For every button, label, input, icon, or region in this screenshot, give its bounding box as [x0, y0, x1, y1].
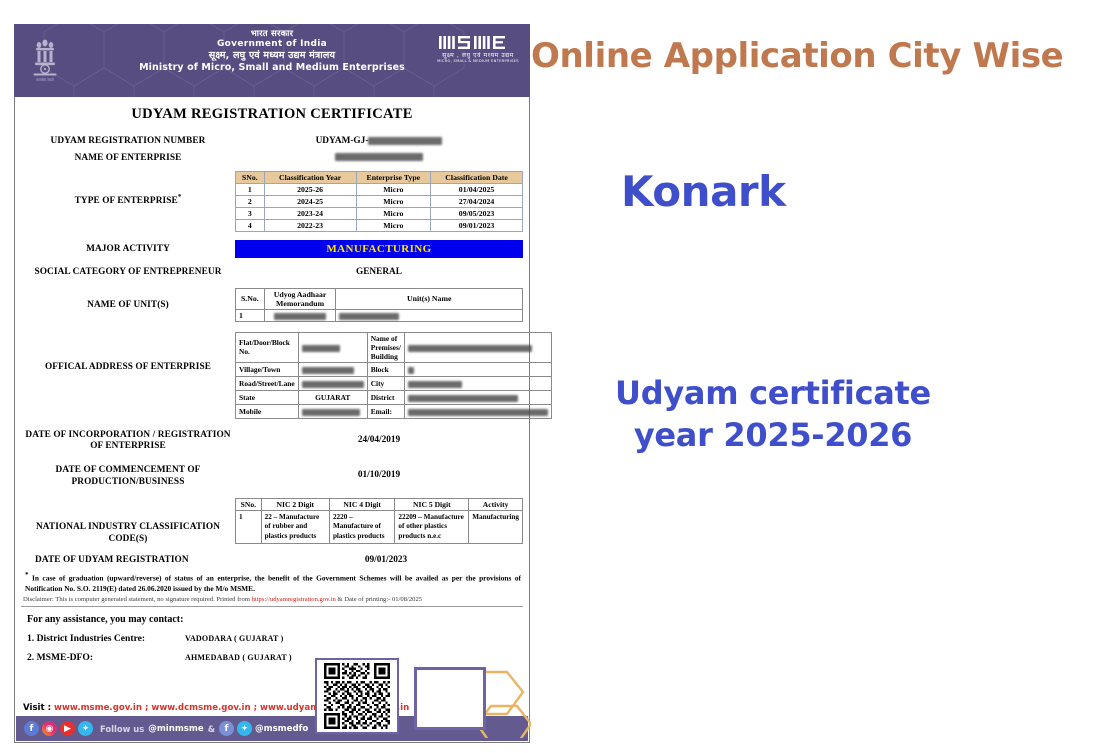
cell-type: Micro [356, 184, 431, 196]
table-row: 1 22 – Manufacture of rubber and plastic… [236, 511, 523, 544]
cell-sno: 2 [236, 196, 265, 208]
table-row: 1 2025-26 Micro 01/04/2025 [236, 184, 523, 196]
col-nic2: NIC 2 Digit [261, 499, 329, 511]
contact-dic: 1. District Industries Centre: VADODARA … [21, 625, 523, 644]
field-name-of-units: NAME OF UNIT(S) S.No. Udyog Aadhaar Memo… [21, 288, 523, 322]
col-sno: SNo. [236, 499, 262, 511]
contact-dic-label: 1. District Industries Centre: [27, 633, 185, 644]
addr-value-district [404, 390, 551, 404]
address-row: Village/Town Block [236, 362, 552, 376]
type-of-enterprise-label: TYPE OF ENTERPRISE* [21, 171, 235, 208]
address-row: State GUJARAT District [236, 390, 552, 404]
disclaimer: Disclaimer: This is computer generated s… [21, 594, 523, 608]
addr-label-mobile: Mobile [236, 404, 299, 418]
registration-number-label: UDYAM REGISTRATION NUMBER [21, 134, 235, 148]
contact-dfo-value: AHMEDABAD ( GUJARAT ) [185, 652, 292, 663]
certificate-header: सत्यमेव जयते भारत सरकार Government of In… [14, 24, 530, 97]
cell-date: 27/04/2024 [431, 196, 523, 208]
assistance-heading: For any assistance, you may contact: [21, 607, 523, 625]
units-table: S.No. Udyog Aadhaar Memorandum Unit(s) N… [235, 288, 523, 322]
annotation-caption-line2: year 2025-2026 [563, 414, 983, 456]
col-sno: SNo. [236, 172, 265, 184]
msme-logo-english: MICRO, SMALL & MEDIUM ENTERPRISES [432, 60, 524, 64]
certificate-title: UDYAM REGISTRATION CERTIFICATE [21, 97, 523, 134]
annotation-city-name: Konark [621, 167, 786, 216]
table-header-row: S.No. Udyog Aadhaar Memorandum Unit(s) N… [236, 288, 523, 309]
udyam-certificate-document: सत्यमेव जयते भारत सरकार Government of In… [14, 24, 530, 744]
contact-dic-value: VADODARA ( GUJARAT ) [185, 633, 283, 644]
date-commencement-label: DATE OF COMMENCEMENT OF PRODUCTION/BUSIN… [21, 463, 235, 488]
addr-label-flat: Flat/Door/Block No. [236, 332, 299, 362]
cell-type: Micro [356, 208, 431, 220]
handle-minmsme[interactable]: @minmsme [148, 724, 203, 734]
udyam-portal-link[interactable]: https://udyamregistration.gov.in [252, 596, 336, 603]
header-line-english-2: Ministry of Micro, Small and Medium Ente… [14, 62, 530, 74]
follow-us-text: Follow us [100, 724, 144, 734]
youtube-icon[interactable]: ▶ [60, 721, 75, 736]
footnote-asterisk: * [25, 571, 29, 579]
addr-value-mobile [298, 404, 367, 418]
addr-label-village: Village/Town [236, 362, 299, 376]
col-nic5: NIC 5 Digit [395, 499, 469, 511]
cell-year: 2022-23 [264, 220, 356, 232]
redacted-registration-number [368, 137, 442, 145]
field-registration-number: UDYAM REGISTRATION NUMBER UDYAM-GJ- [21, 134, 523, 148]
address-row: Road/Street/Lane City [236, 376, 552, 390]
redacted-district [408, 395, 518, 402]
addr-value-block [404, 362, 551, 376]
redacted-premises [408, 345, 532, 352]
addr-value-state: GUJARAT [298, 390, 367, 404]
major-activity-wrap: MANUFACTURING [235, 240, 523, 258]
addr-label-block: Block [367, 362, 404, 376]
field-social-category: SOCIAL CATEGORY OF ENTREPRENEUR GENERAL [21, 265, 523, 279]
twitter-icon[interactable]: ✦ [78, 721, 93, 736]
qr-code-icon [320, 663, 394, 729]
ampersand: & [208, 724, 215, 734]
addr-value-city [404, 376, 551, 390]
cell-date: 09/01/2023 [431, 220, 523, 232]
visit-label: Visit : [23, 703, 54, 713]
social-category-label: SOCIAL CATEGORY OF ENTREPRENEUR [21, 265, 235, 279]
addr-value-village [298, 362, 367, 376]
date-udyam-registration-value: 09/01/2023 [249, 553, 523, 565]
twitter-icon[interactable]: ✦ [237, 721, 252, 736]
official-address-label: OFFICAL ADDRESS OF ENTERPRISE [21, 332, 235, 374]
cell-type: Micro [356, 220, 431, 232]
enterprise-type-table-wrap: SNo. Classification Year Enterprise Type… [235, 171, 523, 232]
disclaimer-prefix: Disclaimer: This is computer generated s… [23, 596, 252, 603]
instagram-icon[interactable]: ◉ [42, 721, 57, 736]
registration-number-value: UDYAM-GJ- [235, 134, 523, 146]
cell-sno: 1 [236, 511, 262, 544]
col-activity: Activity [469, 499, 523, 511]
enterprise-name-label: NAME OF ENTERPRISE [21, 151, 235, 165]
graduation-footnote: * In case of graduation (upward/reverse)… [21, 569, 523, 593]
addr-value-road [298, 376, 367, 390]
redacted-block [408, 367, 414, 374]
cell-uam-redacted [264, 309, 336, 321]
cell-sno: 1 [236, 309, 265, 321]
field-official-address: OFFICAL ADDRESS OF ENTERPRISE Flat/Door/… [21, 332, 523, 419]
address-row: Mobile Email: [236, 404, 552, 418]
enterprise-type-table: SNo. Classification Year Enterprise Type… [235, 171, 523, 232]
redacted-city [408, 381, 462, 388]
cell-year: 2025-26 [264, 184, 356, 196]
addr-value-premises [404, 332, 551, 362]
address-table: Flat/Door/Block No. Name of Premises/ Bu… [235, 332, 552, 419]
contact-dfo-label: 2. MSME-DFO: [27, 652, 185, 663]
addr-label-district: District [367, 390, 404, 404]
field-date-udyam-registration: DATE OF UDYAM REGISTRATION 09/01/2023 [21, 553, 523, 567]
addr-label-state: State [236, 390, 299, 404]
facebook-icon[interactable]: f [219, 721, 234, 736]
cell-nic4: 2220 – Manufacture of plastics products [329, 511, 394, 544]
cell-activity: Manufacturing [469, 511, 523, 544]
col-nic4: NIC 4 Digit [329, 499, 394, 511]
cell-type: Micro [356, 196, 431, 208]
redacted-uam [274, 313, 326, 320]
major-activity-value: MANUFACTURING [235, 240, 523, 258]
annotation-title: Online Application City Wise [531, 36, 1111, 76]
date-incorporation-label: DATE OF INCORPORATION / REGISTRATION OF … [21, 428, 235, 453]
facebook-icon[interactable]: f [24, 721, 39, 736]
name-of-units-label: NAME OF UNIT(S) [21, 288, 235, 312]
contact-dfo: 2. MSME-DFO: AHMEDABAD ( GUJARAT ) [21, 644, 523, 663]
empty-placeholder-box [414, 667, 486, 730]
table-row: 1 [236, 309, 523, 321]
svg-text:सत्यमेव जयते: सत्यमेव जयते [36, 77, 55, 82]
redacted-enterprise-name [335, 153, 423, 161]
redacted-email [408, 409, 548, 416]
table-header-row: SNo. NIC 2 Digit NIC 4 Digit NIC 5 Digit… [236, 499, 523, 511]
addr-label-road: Road/Street/Lane [236, 376, 299, 390]
enterprise-name-value [235, 151, 523, 163]
footnote-text: In case of graduation (upward/reverse) o… [25, 574, 521, 593]
field-enterprise-name: NAME OF ENTERPRISE [21, 151, 523, 165]
address-row: Flat/Door/Block No. Name of Premises/ Bu… [236, 332, 552, 362]
addr-label-email: Email: [367, 404, 404, 418]
col-enterprise-type: Enterprise Type [356, 172, 431, 184]
field-nic-codes: NATIONAL INDUSTRY CLASSIFICATION CODE(S)… [21, 498, 523, 545]
msme-logo: सूक्ष्म , लघु एवं मध्यम उद्यम MICRO, SMA… [432, 34, 524, 64]
table-row: 3 2023-24 Micro 09/05/2023 [236, 208, 523, 220]
redacted-road [302, 381, 364, 388]
handle-msmedfo[interactable]: @msmedfo [255, 724, 308, 734]
social-category-value: GENERAL [235, 265, 523, 277]
annotation-caption: Udyam certificate year 2025-2026 [563, 372, 983, 456]
asterisk-marker: * [178, 193, 182, 201]
qr-code[interactable] [315, 658, 399, 734]
field-type-of-enterprise: TYPE OF ENTERPRISE* SNo. Classification … [21, 171, 523, 232]
field-date-incorporation: DATE OF INCORPORATION / REGISTRATION OF … [21, 428, 523, 453]
nic-table-wrap: SNo. NIC 2 Digit NIC 4 Digit NIC 5 Digit… [235, 498, 523, 544]
cell-sno: 4 [236, 220, 265, 232]
cell-date: 09/05/2023 [431, 208, 523, 220]
registration-number-prefix: UDYAM-GJ- [316, 136, 369, 146]
date-commencement-value: 01/10/2019 [235, 463, 523, 480]
field-major-activity: MAJOR ACTIVITY MANUFACTURING [21, 240, 523, 258]
addr-value-email [404, 404, 551, 418]
addr-value-flat [298, 332, 367, 362]
field-date-commencement: DATE OF COMMENCEMENT OF PRODUCTION/BUSIN… [21, 463, 523, 488]
col-uam: Udyog Aadhaar Memorandum [264, 288, 336, 309]
disclaimer-suffix: & Date of printing:- 01/08/2025 [336, 596, 422, 603]
redacted-flat [302, 345, 340, 352]
cell-year: 2024-25 [264, 196, 356, 208]
msme-wordmark-icon [438, 34, 518, 51]
table-row: 2 2024-25 Micro 27/04/2024 [236, 196, 523, 208]
redacted-unit-name [339, 313, 399, 320]
cell-date: 01/04/2025 [431, 184, 523, 196]
col-unit-name: Unit(s) Name [336, 288, 523, 309]
table-header-row: SNo. Classification Year Enterprise Type… [236, 172, 523, 184]
addr-label-premises: Name of Premises/ Building [367, 332, 404, 362]
cell-unit-name-redacted [336, 309, 523, 321]
cell-nic5: 22209 – Manufacture of other plastics pr… [395, 511, 469, 544]
addr-label-city: City [367, 376, 404, 390]
cell-sno: 3 [236, 208, 265, 220]
nic-table: SNo. NIC 2 Digit NIC 4 Digit NIC 5 Digit… [235, 498, 523, 544]
date-udyam-registration-label: DATE OF UDYAM REGISTRATION [21, 553, 249, 567]
col-classification-date: Classification Date [431, 172, 523, 184]
address-table-wrap: Flat/Door/Block No. Name of Premises/ Bu… [235, 332, 552, 419]
major-activity-label: MAJOR ACTIVITY [21, 240, 235, 256]
annotation-caption-line1: Udyam certificate [563, 372, 983, 414]
col-sno: S.No. [236, 288, 265, 309]
cell-nic2: 22 – Manufacture of rubber and plastics … [261, 511, 329, 544]
certificate-body: UDYAM REGISTRATION CERTIFICATE UDYAM REG… [14, 97, 530, 743]
nic-label: NATIONAL INDUSTRY CLASSIFICATION CODE(S) [21, 498, 235, 545]
redacted-village [302, 367, 354, 374]
table-row: 4 2022-23 Micro 09/01/2023 [236, 220, 523, 232]
units-table-wrap: S.No. Udyog Aadhaar Memorandum Unit(s) N… [235, 288, 523, 322]
redacted-mobile [302, 409, 360, 416]
cell-year: 2023-24 [264, 208, 356, 220]
cell-sno: 1 [236, 184, 265, 196]
date-incorporation-value: 24/04/2019 [235, 428, 523, 445]
col-classification-year: Classification Year [264, 172, 356, 184]
